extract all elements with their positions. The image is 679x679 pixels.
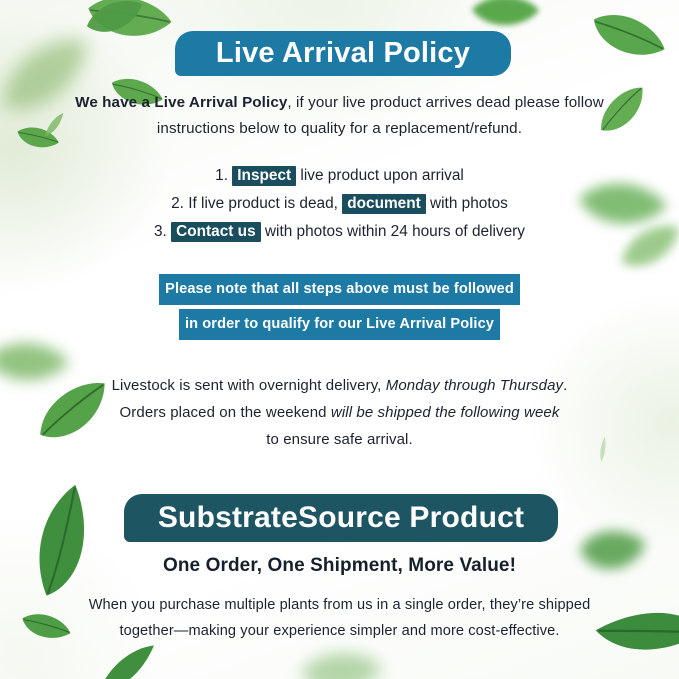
step-before: If live product is dead, <box>184 195 342 212</box>
value-line-2: together—making your experience simpler … <box>0 618 679 644</box>
step-highlight-contact-us: Contact us <box>171 222 261 242</box>
step-highlight-inspect: Inspect <box>232 166 296 186</box>
intro-paragraph: We have a Live Arrival Policy, if your l… <box>0 90 679 142</box>
intro-rest: , if your live product arrives dead plea… <box>287 94 603 111</box>
shipping-line-1-emphasis: Monday through Thursday <box>386 377 563 394</box>
note-block: Please note that all steps above must be… <box>0 274 679 344</box>
intro-lead: We have a Live Arrival Policy <box>75 94 287 111</box>
note-row-1: Please note that all steps above must be… <box>0 274 679 305</box>
shipping-line-3: to ensure safe arrival. <box>0 426 679 453</box>
step-number: 2. <box>171 195 184 212</box>
shipping-line-2-emphasis: will be shipped the following week <box>331 404 560 421</box>
tagline: One Order, One Shipment, More Value! <box>0 555 679 577</box>
shipping-line-1: Livestock is sent with overnight deliver… <box>0 372 679 399</box>
shipping-line-1-b: . <box>563 377 567 394</box>
shipping-paragraph: Livestock is sent with overnight deliver… <box>0 372 679 453</box>
shipping-line-2-a: Orders placed on the weekend <box>120 404 331 421</box>
policy-infographic: Live Arrival Policy We have a Live Arriv… <box>0 0 679 679</box>
intro-line-2: instructions below to quality for a repl… <box>0 116 679 142</box>
value-line-1: When you purchase multiple plants from u… <box>0 592 679 618</box>
banner-substratesource-product: SubstrateSource Product <box>124 494 558 542</box>
list-item: 2. If live product is dead, document wit… <box>0 190 679 218</box>
step-number: 1. <box>215 167 228 184</box>
step-after: live product upon arrival <box>296 167 464 184</box>
value-paragraph: When you purchase multiple plants from u… <box>0 592 679 644</box>
list-item: 1. Inspect live product upon arrival <box>0 162 679 190</box>
intro-line-1: We have a Live Arrival Policy, if your l… <box>0 90 679 116</box>
steps-list: 1. Inspect live product upon arrival 2. … <box>0 162 679 246</box>
step-after: with photos within 24 hours of delivery <box>261 223 525 240</box>
note-row-2: in order to qualify for our Live Arrival… <box>0 309 679 340</box>
shipping-line-1-a: Livestock is sent with overnight deliver… <box>112 377 386 394</box>
list-item: 3. Contact us with photos within 24 hour… <box>0 218 679 246</box>
step-after: with photos <box>426 195 508 212</box>
shipping-line-2: Orders placed on the weekend will be shi… <box>0 399 679 426</box>
step-highlight-document: document <box>342 194 426 214</box>
step-number: 3. <box>154 223 167 240</box>
note-line-1: Please note that all steps above must be… <box>159 274 520 305</box>
banner-live-arrival-policy: Live Arrival Policy <box>175 31 511 76</box>
note-line-2: in order to qualify for our Live Arrival… <box>179 309 500 340</box>
